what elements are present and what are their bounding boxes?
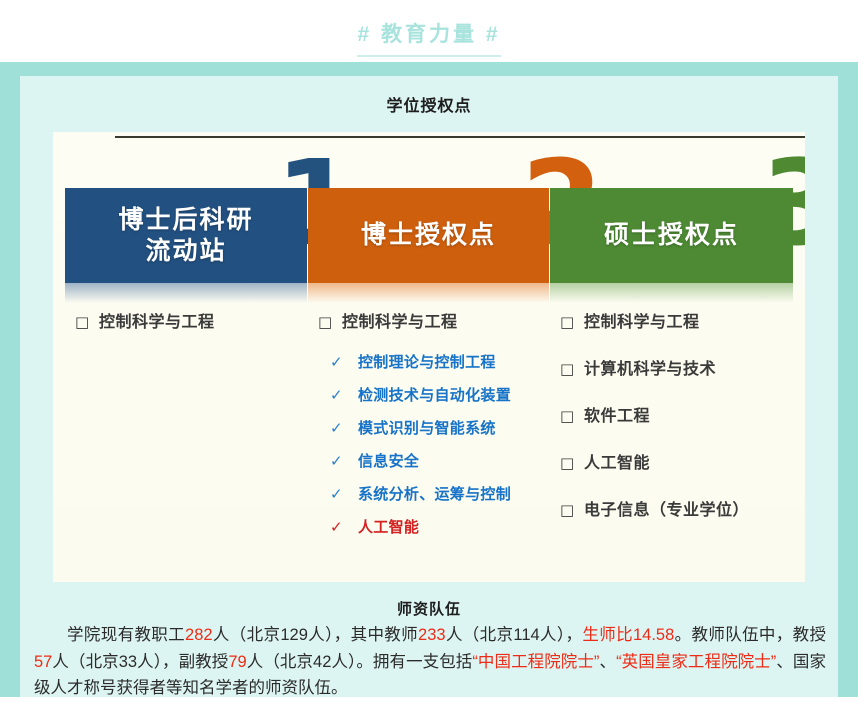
check-bullet-icon: ✓ xyxy=(330,421,358,436)
discipline-row: □人工智能 xyxy=(560,449,805,473)
discipline-row: ✓系统分析、运筹与控制 xyxy=(330,483,550,504)
discipline-column-postdoc: □控制科学与工程 xyxy=(75,308,307,351)
discipline-label: 检测技术与自动化装置 xyxy=(358,384,511,405)
faculty-highlight: 生师比14.58 xyxy=(582,626,674,644)
degree-authorization-header: 学位授权点 xyxy=(20,92,838,116)
discipline-label: 人工智能 xyxy=(358,516,419,537)
check-bullet-icon: ✓ xyxy=(330,520,358,535)
discipline-label: 系统分析、运筹与控制 xyxy=(358,483,511,504)
square-bullet-icon: □ xyxy=(560,503,584,518)
section-title-label: 教育力量 xyxy=(381,23,477,46)
discipline-row: ✓检测技术与自动化装置 xyxy=(330,384,550,405)
square-bullet-icon: □ xyxy=(560,409,584,424)
discipline-row: ✓人工智能 xyxy=(330,516,550,537)
degree-authorization-diagram: 1 2 3 博士后科研流动站 博士授权点 硕士授权点 □控制科学与工程 □控制科… xyxy=(53,132,805,582)
bar-doctoral: 博士授权点 xyxy=(308,188,549,283)
discipline-label: 模式识别与智能系统 xyxy=(358,417,496,438)
bar-reflection-2 xyxy=(308,283,549,303)
bar-reflection-3 xyxy=(550,283,793,303)
card-inner: 学位授权点 1 2 3 博士后科研流动站 博士授权点 硕士授权点 xyxy=(20,76,838,697)
discipline-label: 控制科学与工程 xyxy=(342,308,458,332)
square-bullet-icon: □ xyxy=(75,315,99,330)
check-bullet-icon: ✓ xyxy=(330,487,358,502)
faculty-highlight: 79 xyxy=(228,653,246,671)
faculty-text: 、 xyxy=(599,653,616,671)
bar-postdoc-station: 博士后科研流动站 xyxy=(65,188,307,283)
faculty-text: 学院现有教职工 xyxy=(67,626,185,644)
discipline-label: 控制科学与工程 xyxy=(584,308,700,332)
discipline-label: 控制科学与工程 xyxy=(99,308,215,332)
discipline-row: □控制科学与工程 xyxy=(560,308,805,332)
check-bullet-icon: ✓ xyxy=(330,355,358,370)
section-title: # 教育力量 # xyxy=(0,18,858,57)
discipline-row: □控制科学与工程 xyxy=(318,308,550,332)
faculty-highlight: “英国皇家工程院院士” xyxy=(616,653,776,671)
faculty-body: 学院现有教职工282人（北京129人），其中教师233人（北京114人），生师比… xyxy=(34,622,826,702)
discipline-row: □控制科学与工程 xyxy=(75,308,307,332)
square-bullet-icon: □ xyxy=(560,456,584,471)
discipline-row: ✓信息安全 xyxy=(330,450,550,471)
faculty-text: 人（北京33人），副教授 xyxy=(52,653,228,671)
discipline-label: 软件工程 xyxy=(584,402,650,426)
section-title-text: # 教育力量 # xyxy=(357,18,500,57)
bar-postdoc-label: 博士后科研流动站 xyxy=(118,205,253,266)
discipline-column-doctoral: □控制科学与工程✓控制理论与控制工程✓检测技术与自动化装置✓模式识别与智能系统✓… xyxy=(318,308,550,549)
discipline-label: 控制理论与控制工程 xyxy=(358,351,496,372)
square-bullet-icon: □ xyxy=(318,315,342,330)
faculty-text: 人（北京129人），其中教师 xyxy=(213,626,418,644)
faculty-title: 师资队伍 xyxy=(20,598,838,619)
bar-master-label: 硕士授权点 xyxy=(604,220,739,251)
card-frame: 学位授权点 1 2 3 博士后科研流动站 博士授权点 硕士授权点 xyxy=(0,62,858,697)
faculty-highlight: “中国工程院院士” xyxy=(472,653,599,671)
square-bullet-icon: □ xyxy=(560,315,584,330)
hash-left-icon: # xyxy=(357,23,372,46)
discipline-row: □电子信息（专业学位） xyxy=(560,496,805,520)
bar-reflection-1 xyxy=(65,283,307,303)
diagram-top-rule xyxy=(115,136,805,138)
faculty-highlight: 233 xyxy=(418,626,446,644)
faculty-text: 人（北京42人）。拥有一支包括 xyxy=(247,653,473,671)
square-bullet-icon: □ xyxy=(560,362,584,377)
discipline-row: ✓控制理论与控制工程 xyxy=(330,351,550,372)
faculty-text: 人（北京114人）， xyxy=(446,626,583,644)
check-bullet-icon: ✓ xyxy=(330,388,358,403)
hash-right-icon: # xyxy=(486,23,501,46)
discipline-row: □计算机科学与技术 xyxy=(560,355,805,379)
faculty-text: 。教师队伍中，教授 xyxy=(674,626,826,644)
faculty-highlight: 282 xyxy=(185,626,213,644)
discipline-row: □软件工程 xyxy=(560,402,805,426)
discipline-row: ✓模式识别与智能系统 xyxy=(330,417,550,438)
discipline-label: 人工智能 xyxy=(584,449,650,473)
discipline-label: 电子信息（专业学位） xyxy=(584,496,749,520)
discipline-label: 信息安全 xyxy=(358,450,419,471)
faculty-highlight: 57 xyxy=(34,653,52,671)
bar-master: 硕士授权点 xyxy=(550,188,793,283)
page-root: # 教育力量 # 学位授权点 1 2 3 博士后科研流动站 博士授权点 xyxy=(0,0,858,697)
check-bullet-icon: ✓ xyxy=(330,454,358,469)
discipline-column-master: □控制科学与工程□计算机科学与技术□软件工程□人工智能□电子信息（专业学位） xyxy=(560,308,805,543)
bar-doctoral-label: 博士授权点 xyxy=(361,220,496,251)
discipline-label: 计算机科学与技术 xyxy=(584,355,716,379)
